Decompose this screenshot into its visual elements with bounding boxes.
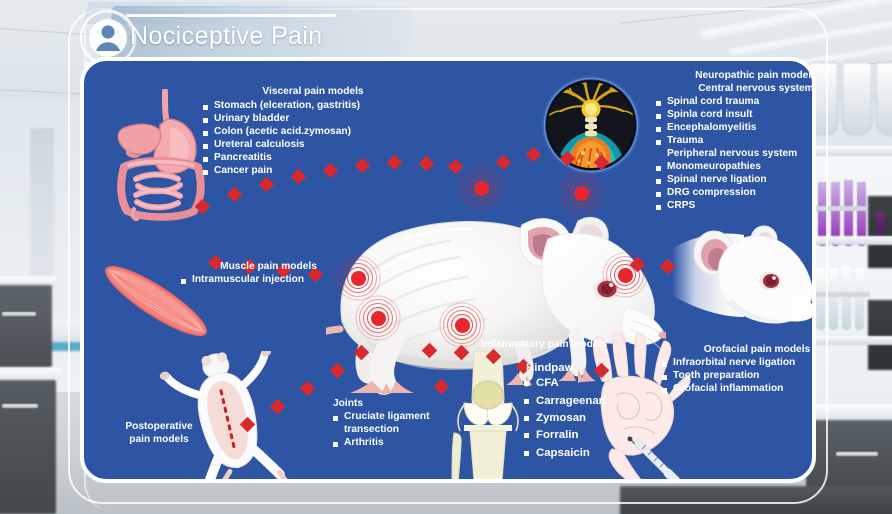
list-item: Spinal nerve ligation [656, 174, 816, 187]
lab-cabinet [0, 380, 56, 514]
list-item: Carrageenan [514, 393, 644, 410]
list-item: Pancreatitis [203, 152, 423, 165]
postoperative-pain-models-block: Postoperative pain models [94, 421, 224, 447]
pain-point-marker [356, 296, 400, 340]
neuron-spinal-cord-medallion [539, 73, 643, 182]
supine-rat-incision-illustration [156, 351, 296, 483]
connector-dash [300, 381, 316, 397]
orofacial-pain-models-block: Orofacial pain models Infraorbital nerve… [662, 344, 816, 396]
peripheral-nervous-system-list: Monomeuropathies Spinal nerve ligation D… [656, 161, 816, 213]
connector-dash [259, 177, 275, 193]
cabinet-handle [2, 312, 36, 316]
list-item: Intramuscular injection [181, 274, 356, 287]
list-item: DRG compression [656, 187, 816, 200]
list-item: Arthritis [333, 437, 453, 450]
list-item: Orofacial inflammation [662, 383, 816, 396]
list-item: Cancer pain [203, 165, 423, 178]
hindpaw-list: CFA Carrageenan Zymosan Forralin Capsaic… [514, 375, 644, 462]
page-title: Nociceptive Pain [130, 22, 323, 51]
test-tube [829, 268, 838, 330]
list-item: Infraorbital nerve ligation [662, 357, 816, 370]
main-content-panel: Visceral pain models Stomach (elceration… [80, 57, 816, 483]
list-item: CFA [514, 375, 644, 392]
list-item: Ureteral calculosis [203, 139, 423, 152]
test-tube [842, 266, 851, 330]
joints-list: Cruciate ligament transection Arthritis [333, 411, 453, 450]
lab-cabinet [0, 285, 52, 367]
inflammatory-pain-models-heading: Inflammatory pain models [444, 339, 644, 352]
postoperative-heading-line2: pain models [94, 434, 224, 447]
tube-rack [812, 292, 870, 297]
list-item: Stomach (elceration, gastritis) [203, 100, 423, 113]
hindpaw-subheading: Hindpaw [514, 361, 644, 375]
list-item: Spinla cord insult [656, 109, 816, 122]
visceral-heading: Visceral pain models [203, 86, 423, 99]
pain-point-marker [559, 171, 603, 215]
list-item: Monomeuropathies [656, 161, 816, 174]
list-item: Capsaicin [514, 445, 644, 462]
joints-block: Joints Cruciate ligament transection Art… [333, 398, 453, 450]
muscle-pain-models-block: Muscle pain models Intramuscular injecti… [181, 261, 356, 287]
shelf [806, 146, 892, 156]
joints-heading: Joints [333, 398, 453, 411]
counter-surface [806, 404, 892, 420]
list-item: Zymosan [514, 410, 644, 427]
list-item: CRPS [656, 200, 816, 213]
flask-icon [876, 62, 892, 136]
connector-dash [227, 187, 243, 203]
orofacial-heading: Orofacial pain models [662, 344, 816, 357]
lab-bench [620, 486, 892, 514]
cabinet-handle [836, 452, 878, 456]
list-item: Encephalomyelitis [656, 122, 816, 135]
list-item: Urinary bladder [203, 113, 423, 126]
test-tube [855, 268, 864, 330]
test-tube [816, 268, 825, 330]
pain-point-marker [459, 166, 503, 210]
shelf [806, 236, 892, 245]
hanging-glassware [806, 58, 892, 148]
peripheral-nervous-system-subheading: Peripheral nervous system [656, 148, 816, 161]
rat-head-illustration [672, 209, 816, 334]
hindpaw-block: Hindpaw CFA Carrageenan Zymosan Forralin… [514, 361, 644, 462]
muscle-heading: Muscle pain models [181, 261, 356, 274]
neuropathic-pain-models-block: Neuropathic pain models Central nervous … [656, 70, 816, 212]
list-item: Tooth preparation [662, 370, 816, 383]
central-nervous-system-list: Spinal cord trauma Spinla cord insult En… [656, 96, 816, 148]
visceral-pain-models-block: Visceral pain models Stomach (elceration… [203, 86, 423, 178]
central-nervous-system-subheading: Central nervous system [656, 83, 816, 96]
list-item: Trauma [656, 135, 816, 148]
muscle-list: Intramuscular injection [181, 274, 356, 287]
wall-panel [30, 128, 54, 283]
list-item: Forralin [514, 427, 644, 444]
neuropathic-heading: Neuropathic pain models [656, 70, 816, 83]
visceral-list: Stomach (elceration, gastritis) Urinary … [203, 100, 423, 178]
header-bullet-dot [122, 42, 125, 45]
infographic-stage: Nociceptive Pain [0, 0, 892, 514]
cabinet-handle [2, 404, 38, 408]
orofacial-list: Infraorbital nerve ligation Tooth prepar… [662, 357, 816, 396]
postoperative-heading-line1: Postoperative [94, 421, 224, 434]
list-item: Colon (acetic acid.zymosan) [203, 126, 423, 139]
shelf [806, 336, 892, 345]
tube-rack [814, 206, 866, 211]
shelf-contents [868, 300, 892, 370]
list-item: Spinal cord trauma [656, 96, 816, 109]
header-rule [126, 14, 336, 17]
flask-icon [842, 62, 872, 136]
list-item: Cruciate ligament transection [333, 411, 453, 437]
